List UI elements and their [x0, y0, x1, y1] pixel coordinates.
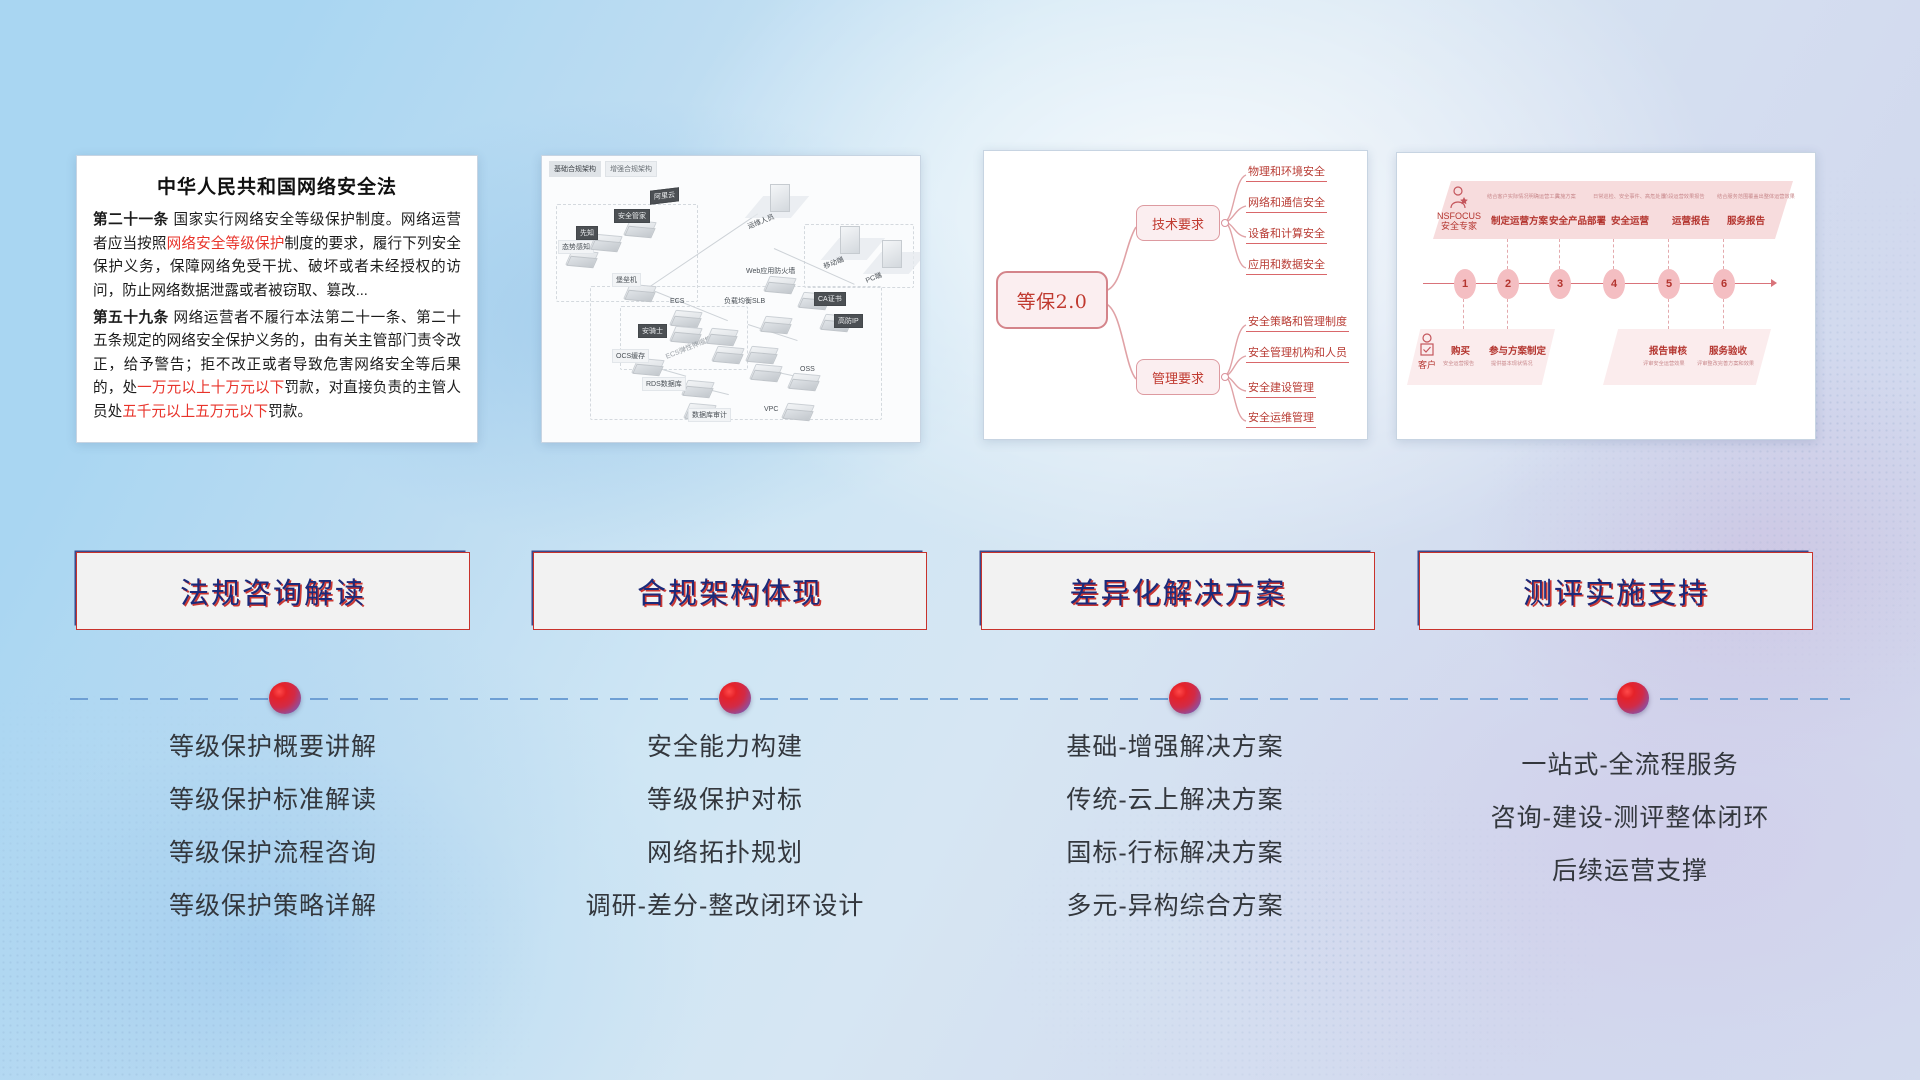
- nsfocus-tick: [1668, 239, 1669, 269]
- mindmap-leaf[interactable]: 物理和环境安全: [1246, 163, 1327, 182]
- nsfocus-step-sub: 阶段运营效果报告: [1663, 193, 1705, 200]
- nsfocus-step-title: 制定运营方案: [1491, 213, 1548, 227]
- nsfocus-customer-role: 客户: [1415, 360, 1439, 370]
- card-architecture-diagram[interactable]: 基础合规架构 增强合规架构 阿里云 运维人员 移动端: [541, 155, 921, 443]
- mindmap-collapse-dot-management[interactable]: [1221, 373, 1229, 381]
- list-item: 咨询-建设-测评整体闭环: [1385, 806, 1875, 831]
- mindmap-leaf[interactable]: 安全管理机构和人员: [1246, 344, 1349, 363]
- architecture-label-ca-cert: CA证书: [814, 292, 846, 306]
- service-detail-list: 等级保护概要讲解 等级保护标准解读 等级保护流程咨询 等级保护策略详解: [38, 735, 508, 919]
- nsfocus-step-title: 服务报告: [1727, 213, 1765, 227]
- architecture-server-icon: [840, 226, 860, 254]
- card-nsfocus-timeline[interactable]: NSFOCUS 安全专家 结合客户实际情况明确运营工具 制定运营方案 实施方案 …: [1396, 152, 1816, 440]
- nsfocus-step-title: 运营报告: [1672, 213, 1710, 227]
- service-detail-column-3: 基础-增强解决方案 传统-云上解决方案 国标-行标解决方案 多元-异构综合方案: [940, 735, 1410, 947]
- law-article-number-59: 第五十九条: [93, 310, 169, 326]
- nsfocus-tick: [1507, 299, 1508, 329]
- architecture-node-icon: [788, 371, 818, 391]
- service-button-label: 法规咨询解读: [180, 570, 366, 612]
- architecture-node-icon: [764, 274, 794, 294]
- timeline-marker-2[interactable]: [719, 682, 751, 714]
- architecture-label-anti-ddos-ip: 高防IP: [834, 314, 863, 328]
- mindmap-leaf[interactable]: 应用和数据安全: [1246, 256, 1327, 275]
- service-detail-list: 安全能力构建 等级保护对标 网络拓扑规划 调研-差分-整改闭环设计: [490, 735, 960, 919]
- architecture-cloud-label: 阿里云: [650, 187, 679, 205]
- architecture-node-icon: [682, 378, 712, 398]
- service-detail-column-2: 安全能力构建 等级保护对标 网络拓扑规划 调研-差分-整改闭环设计: [490, 735, 960, 947]
- list-item: 多元-异构综合方案: [940, 894, 1410, 919]
- list-item: 调研-差分-整改闭环设计: [490, 894, 960, 919]
- nsfocus-step-node[interactable]: 6: [1713, 269, 1735, 299]
- nsfocus-step-node[interactable]: 4: [1603, 269, 1625, 299]
- law-run-highlight: 五千元以上五万元以下: [122, 404, 268, 420]
- service-detail-list: 一站式-全流程服务 咨询-建设-测评整体闭环 后续运营支撑: [1385, 753, 1875, 884]
- list-item: 传统-云上解决方案: [940, 788, 1410, 813]
- list-item: 等级保护概要讲解: [38, 735, 508, 760]
- nsfocus-step-title: 安全产品部署: [1549, 213, 1606, 227]
- architecture-label-xianzhi: 先知: [576, 226, 598, 240]
- service-detail-list: 基础-增强解决方案 传统-云上解决方案 国标-行标解决方案 多元-异构综合方案: [940, 735, 1410, 919]
- mindmap-branch-management[interactable]: 管理要求: [1136, 359, 1220, 395]
- architecture-label-ecs: ECS: [670, 298, 684, 305]
- nsfocus-customer-title: 报告审核: [1649, 343, 1687, 357]
- nsfocus-tick: [1559, 239, 1560, 269]
- tab-basic-compliance[interactable]: 基础合规架构: [549, 161, 601, 177]
- law-run-highlight: 网络安全等级保护: [167, 236, 285, 252]
- timeline-marker-3[interactable]: [1169, 682, 1201, 714]
- mindmap-leaf[interactable]: 安全策略和管理制度: [1246, 313, 1349, 332]
- nsfocus-tick: [1507, 239, 1508, 269]
- screenshot-card-row: 中华人民共和国网络安全法 第二十一条 国家实行网络安全等级保护制度。网络运营者应…: [0, 0, 1920, 450]
- architecture-node-icon: [750, 362, 780, 382]
- mindmap-leaf[interactable]: 设备和计算安全: [1246, 225, 1327, 244]
- list-item: 等级保护对标: [490, 788, 960, 813]
- nsfocus-step-node[interactable]: 1: [1454, 269, 1476, 299]
- list-item: 后续运营支撑: [1385, 859, 1875, 884]
- nsfocus-step-title: 安全运营: [1611, 213, 1649, 227]
- nsfocus-expert-band: [1433, 181, 1793, 239]
- architecture-node-icon: [712, 344, 742, 364]
- nsfocus-step-sub: 实施方案: [1555, 193, 1576, 200]
- service-button-label: 差异化解决方案: [1069, 570, 1286, 612]
- nsfocus-customer-title: 参与方案制定: [1489, 343, 1546, 357]
- nsfocus-customer-title: 购买: [1451, 343, 1470, 357]
- mindmap-root-node[interactable]: 等保2.0: [996, 271, 1108, 329]
- nsfocus-step-sub: 日常巡检、安全事件、高危处置: [1593, 193, 1666, 200]
- architecture-server-icon: [882, 240, 902, 268]
- list-item: 国标-行标解决方案: [940, 841, 1410, 866]
- service-button-label: 测评实施支持: [1523, 570, 1709, 612]
- nsfocus-customer-sub: 提供基本现状情况: [1491, 360, 1533, 367]
- architecture-node-icon: [760, 314, 790, 334]
- architecture-label-db-audit: 数据库审计: [688, 408, 731, 422]
- architecture-label-waf: Web应用防火墙: [746, 266, 795, 276]
- architecture-server-icon: [770, 184, 790, 212]
- architecture-label-vpc: VPC: [764, 406, 778, 413]
- service-detail-column-4: 一站式-全流程服务 咨询-建设-测评整体闭环 后续运营支撑: [1385, 753, 1875, 912]
- nsfocus-step-node[interactable]: 5: [1658, 269, 1680, 299]
- list-item: 等级保护流程咨询: [38, 841, 508, 866]
- list-item: 安全能力构建: [490, 735, 960, 760]
- architecture-label-bastion-host: 堡垒机: [612, 273, 641, 287]
- service-button-regulation-consulting[interactable]: 法规咨询解读: [76, 552, 470, 630]
- law-run: 罚款。: [268, 404, 312, 420]
- architecture-label-rds: RDS数据库: [642, 377, 686, 391]
- card-mindmap[interactable]: 等保2.0 技术要求 物理和环境安全 网络和通信安全 设备和计算安全 应用和数据…: [983, 150, 1368, 440]
- nsfocus-customer-sub: 评审安全运营效果: [1643, 360, 1685, 367]
- card-law-text[interactable]: 中华人民共和国网络安全法 第二十一条 国家实行网络安全等级保护制度。网络运营者应…: [76, 155, 478, 443]
- progress-timeline: [70, 697, 1850, 701]
- nsfocus-tick: [1723, 239, 1724, 269]
- service-button-differentiated-solution[interactable]: 差异化解决方案: [981, 552, 1375, 630]
- nsfocus-customer-band-right: [1603, 329, 1771, 385]
- service-detail-column-1: 等级保护概要讲解 等级保护标准解读 等级保护流程咨询 等级保护策略详解: [38, 735, 508, 947]
- list-item: 等级保护策略详解: [38, 894, 508, 919]
- nsfocus-step-sub: 结合服务范围覆盖出整体运营效果: [1717, 193, 1795, 200]
- nsfocus-tick: [1613, 239, 1614, 269]
- list-item: 等级保护标准解读: [38, 788, 508, 813]
- architecture-node-icon: [706, 326, 736, 346]
- list-item: 一站式-全流程服务: [1385, 753, 1875, 778]
- timeline-marker-4[interactable]: [1617, 682, 1649, 714]
- nsfocus-customer-sub: 安全运营报告: [1443, 360, 1474, 367]
- service-button-label: 合规架构体现: [637, 570, 823, 612]
- nsfocus-tick: [1668, 299, 1669, 329]
- nsfocus-expert-role-line1: NSFOCUS: [1435, 211, 1483, 221]
- nsfocus-expert-role: NSFOCUS 安全专家: [1435, 211, 1483, 232]
- timeline-dashed-line: [70, 698, 1850, 700]
- mindmap-collapse-dot-technical[interactable]: [1221, 219, 1229, 227]
- security-expert-icon: [1447, 186, 1469, 210]
- list-item: 网络拓扑规划: [490, 841, 960, 866]
- architecture-node-icon: [782, 401, 812, 421]
- tab-enhanced-compliance[interactable]: 增强合规架构: [605, 161, 657, 177]
- service-button-compliance-architecture[interactable]: 合规架构体现: [533, 552, 927, 630]
- architecture-label-ocs-cache: OCS缓存: [612, 349, 649, 363]
- mindmap-leaf[interactable]: 安全建设管理: [1246, 379, 1316, 398]
- nsfocus-step-node[interactable]: 3: [1549, 269, 1571, 299]
- mindmap-canvas: 等保2.0 技术要求 物理和环境安全 网络和通信安全 设备和计算安全 应用和数据…: [984, 151, 1367, 439]
- customer-icon: [1417, 333, 1437, 359]
- mindmap-leaf[interactable]: 网络和通信安全: [1246, 194, 1327, 213]
- architecture-tab-group[interactable]: 基础合规架构 增强合规架构: [549, 161, 657, 177]
- law-title: 中华人民共和国网络安全法: [93, 172, 461, 199]
- architecture-label-anqishi: 安骑士: [638, 324, 667, 338]
- architecture-canvas: 基础合规架构 增强合规架构 阿里云 运维人员 移动端: [542, 156, 920, 442]
- nsfocus-canvas: NSFOCUS 安全专家 结合客户实际情况明确运营工具 制定运营方案 实施方案 …: [1397, 153, 1815, 439]
- nsfocus-step-sub: 结合客户实际情况明确运营工具: [1487, 193, 1560, 200]
- law-run-highlight: 一万元以上十万元以下: [137, 380, 284, 396]
- service-button-evaluation-support[interactable]: 测评实施支持: [1419, 552, 1813, 630]
- nsfocus-expert-role-line2: 安全专家: [1435, 221, 1483, 231]
- nsfocus-step-node[interactable]: 2: [1497, 269, 1519, 299]
- nsfocus-axis-arrow-icon: [1771, 279, 1777, 287]
- mindmap-branch-technical[interactable]: 技术要求: [1136, 205, 1220, 241]
- nsfocus-customer-sub: 评审整改完善方案和效果: [1697, 360, 1754, 367]
- law-paragraph-59: 第五十九条 网络运营者不履行本法第二十一条、第二十五条规定的网络安全保护义务的，…: [93, 307, 461, 425]
- architecture-label-security-butler: 安全管家: [614, 209, 650, 223]
- law-paragraph-21: 第二十一条 国家实行网络安全等级保护制度。网络运营者应当按照网络安全等级保护制度…: [93, 209, 461, 304]
- timeline-marker-1[interactable]: [269, 682, 301, 714]
- list-item: 基础-增强解决方案: [940, 735, 1410, 760]
- architecture-label-slb: 负载均衡SLB: [724, 296, 765, 306]
- law-article-number-21: 第二十一条: [93, 212, 169, 228]
- nsfocus-tick: [1463, 299, 1464, 329]
- architecture-label-oss: OSS: [800, 366, 815, 373]
- nsfocus-tick: [1723, 299, 1724, 329]
- mindmap-leaf[interactable]: 安全运维管理: [1246, 409, 1316, 428]
- nsfocus-customer-title: 服务验收: [1709, 343, 1747, 357]
- architecture-node-icon: [746, 344, 776, 364]
